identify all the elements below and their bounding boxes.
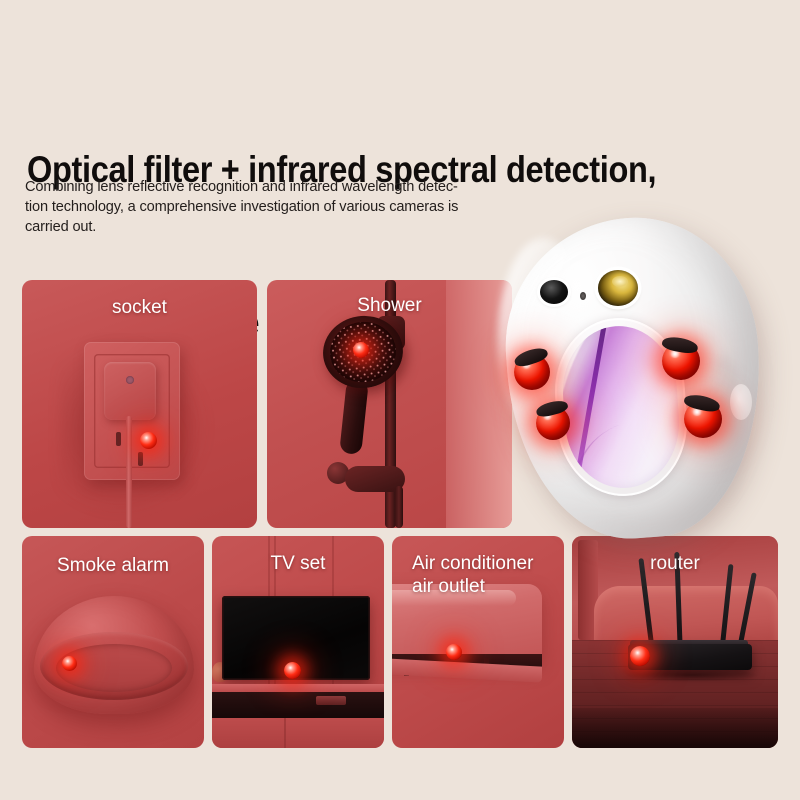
socket-plug-adapter xyxy=(104,362,156,420)
console-base xyxy=(212,718,384,748)
sensor-eye-icon xyxy=(540,280,568,304)
scenario-tile-smoke-alarm[interactable]: Smoke alarm xyxy=(22,536,204,748)
product-feature-poster: Optical filter + infrared spectral detec… xyxy=(0,0,800,800)
detection-dot-icon xyxy=(62,656,77,671)
media-console xyxy=(212,692,384,718)
shower-handle xyxy=(339,379,369,455)
tile-label-tv-set: TV set xyxy=(212,552,384,575)
description-line-1: Combining lens reflective recognition an… xyxy=(25,177,530,197)
scenario-tile-air-conditioner[interactable]: Air conditioner air outlet xyxy=(392,536,564,748)
detection-dot-icon xyxy=(353,342,369,358)
scenario-tile-tv-set[interactable]: TV set xyxy=(212,536,384,748)
device-side-grip xyxy=(730,384,752,420)
infrared-camera-detector-device xyxy=(492,214,800,544)
shower-hose xyxy=(395,486,403,528)
detection-dot-icon xyxy=(284,662,301,679)
air-conditioner-body xyxy=(392,584,542,662)
scenario-tile-shower[interactable]: Shower xyxy=(267,280,512,528)
pinhole-mic-icon xyxy=(580,292,586,300)
table-foreground-shadow xyxy=(572,708,778,748)
console-seam xyxy=(284,718,286,748)
adapter-indicator-icon xyxy=(126,376,134,384)
description-paragraph: Combining lens reflective recognition an… xyxy=(25,177,530,237)
socket-slot-upper xyxy=(116,432,121,446)
ac-highlight xyxy=(392,590,516,606)
socket-slot-lower xyxy=(138,452,143,466)
scenario-tile-router[interactable]: router xyxy=(572,536,778,748)
detection-dot-icon xyxy=(140,432,157,449)
detection-dot-icon xyxy=(630,646,650,666)
socket-cable xyxy=(126,416,132,528)
description-line-2: tion technology, a comprehensive investi… xyxy=(25,197,530,217)
tile-label-socket: socket xyxy=(22,296,257,319)
lens-glint xyxy=(612,276,628,287)
router-shadow xyxy=(624,668,760,682)
tile-label-smoke-alarm: Smoke alarm xyxy=(22,554,204,577)
scenario-tile-socket[interactable]: socket xyxy=(22,280,257,528)
detection-dot-icon xyxy=(446,644,462,660)
remote-control xyxy=(316,696,346,705)
description-line-3: carried out. xyxy=(25,217,530,237)
